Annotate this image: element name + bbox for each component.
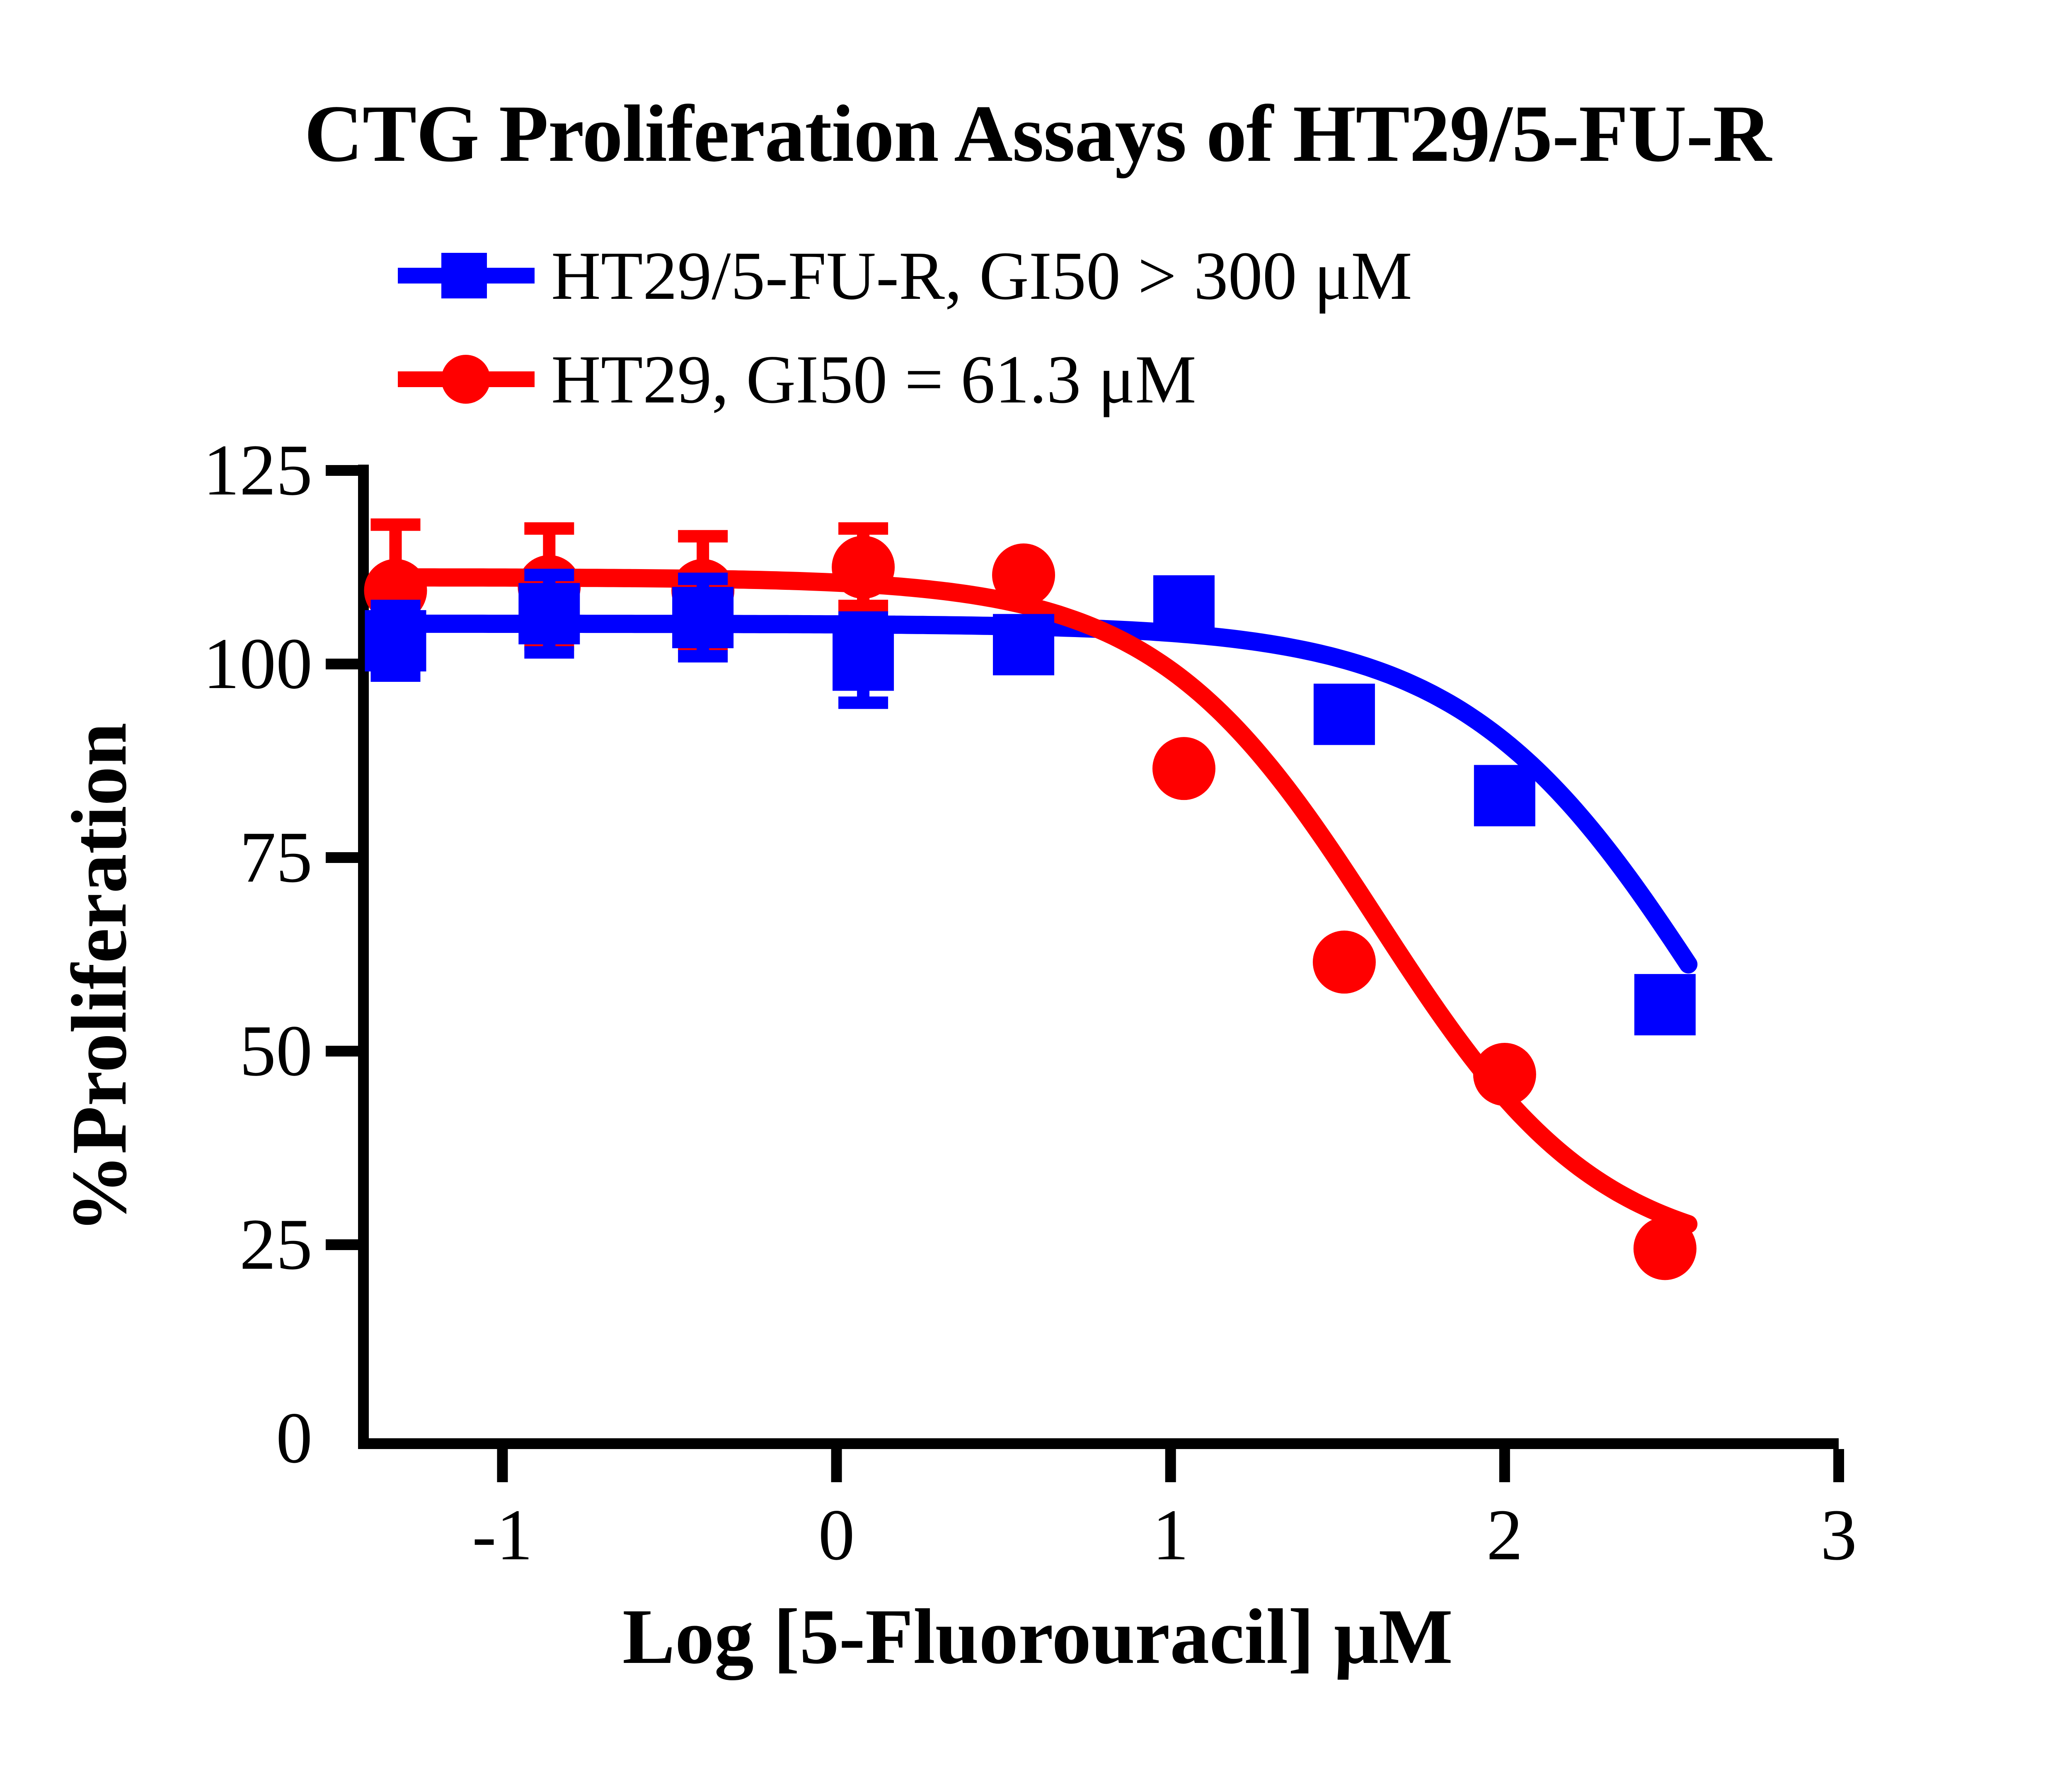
error-bar-cap-bottom [838,600,888,612]
x-axis-line [358,1438,1839,1449]
data-point-square[interactable] [518,583,580,645]
data-point-square[interactable] [1634,974,1696,1035]
data-point-square[interactable] [1153,575,1215,637]
error-bar-cap-top [838,522,888,535]
data-point-square[interactable] [993,614,1054,675]
x-tick-label: 1 [1109,1499,1233,1572]
x-tick-mark [1833,1449,1844,1482]
y-tick-mark [326,659,358,669]
data-point-square[interactable] [1474,765,1535,826]
data-point-square[interactable] [672,587,733,648]
data-point-square[interactable] [833,630,894,691]
data-point-circle[interactable] [1634,1217,1697,1280]
y-tick-mark [326,852,358,863]
x-axis-title: Log [5-Fluorouracil] μM [0,1592,2072,1682]
error-bar-cap-bottom [678,650,728,662]
error-bar-cap-top [838,611,888,624]
error-bar-cap-top [678,530,728,543]
x-tick-mark [1499,1449,1510,1482]
error-bar-cap-bottom [838,696,888,709]
x-tick-label: 0 [775,1499,899,1572]
x-tick-label: -1 [440,1499,564,1572]
data-point-circle[interactable] [1473,1043,1536,1106]
error-bar-cap-bottom [524,646,574,659]
error-bar-cap-top [524,522,574,535]
data-point-square[interactable] [1314,683,1375,745]
y-tick-mark [326,1046,358,1057]
y-axis-title: %Proliferation [54,480,145,1475]
x-tick-label: 2 [1443,1499,1567,1572]
x-tick-mark [831,1449,842,1482]
x-tick-mark [1165,1449,1176,1482]
chart-figure: CTG Proliferation Assays of HT29/5-FU-R … [0,0,2072,1774]
y-tick-mark [326,465,358,476]
error-bar-cap-top [370,519,420,531]
x-tick-mark [497,1449,508,1482]
data-point-square[interactable] [365,610,426,671]
data-point-circle[interactable] [832,536,895,599]
x-tick-label: 3 [1777,1499,1901,1572]
y-tick-mark [326,1239,358,1250]
data-point-circle[interactable] [1313,931,1376,994]
error-bar-cap-top [678,573,728,585]
error-bar-cap-top [524,569,574,581]
data-point-circle[interactable] [1152,737,1215,800]
data-point-circle[interactable] [992,543,1055,606]
